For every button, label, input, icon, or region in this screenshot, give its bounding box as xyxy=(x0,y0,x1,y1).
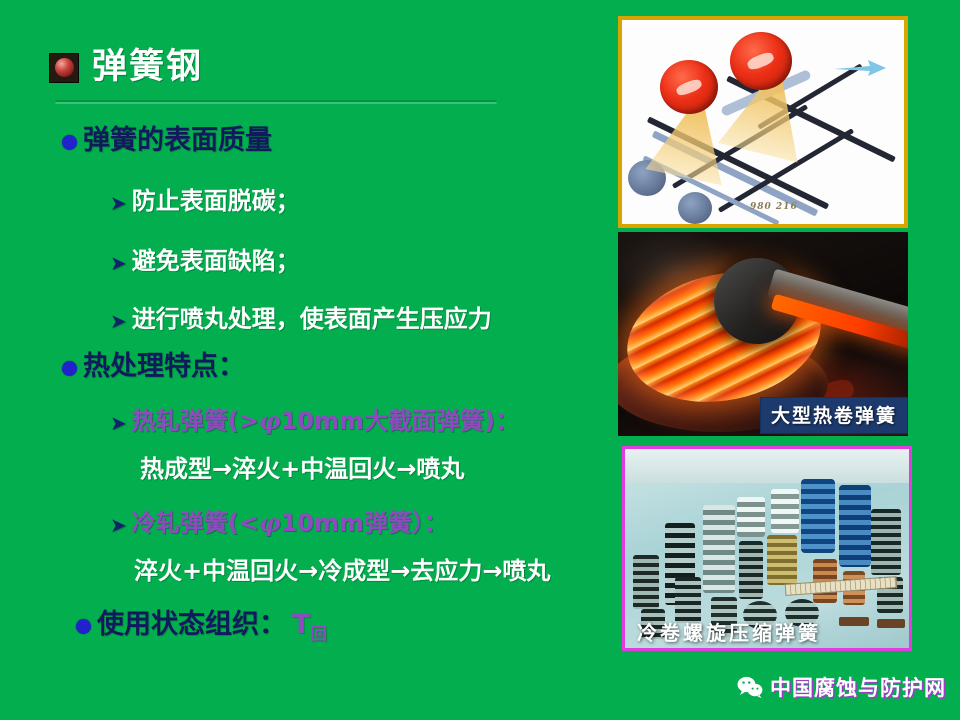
phi-symbol: φ xyxy=(259,406,281,435)
section-heading-service-structure: 使用状态组织： T回 xyxy=(76,610,327,643)
spring-item xyxy=(771,489,799,533)
spring-item xyxy=(877,619,905,628)
phi-symbol: φ xyxy=(259,508,281,537)
arrow-bullet-icon: ➤ xyxy=(110,193,127,213)
blast-wheel-right-icon xyxy=(730,32,792,90)
spring-item xyxy=(703,505,735,593)
shot-peening-machine-diagram: 980 216 xyxy=(618,16,908,228)
spring-item xyxy=(767,535,797,585)
cold-rolled-process: 淬火+中温回火→冷成型→去应力→喷丸 xyxy=(134,558,550,584)
title-divider xyxy=(55,100,497,104)
tempered-symbol: T回 xyxy=(292,610,327,643)
drive-drum-right xyxy=(678,192,712,224)
diagram-canvas: 980 216 xyxy=(622,20,904,224)
cold-coiled-compression-springs-photo: 冷卷螺旋压缩弹簧 xyxy=(622,446,912,651)
image-caption: 冷卷螺旋压缩弹簧 xyxy=(637,617,821,646)
spring-item xyxy=(739,541,763,599)
heading-text: 弹簧的表面质量 xyxy=(83,126,272,156)
red-sphere-bullet-icon xyxy=(50,54,78,82)
list-item: ➤ 防止表面脱碳； xyxy=(110,188,300,214)
list-item: ➤ 避免表面缺陷； xyxy=(110,248,300,274)
wechat-icon xyxy=(737,676,763,698)
diagram-code-label: 980 216 xyxy=(750,202,798,212)
list-item-cold-rolled: ➤ 冷轧弹簧(<φ10mm弹簧）： xyxy=(110,510,448,536)
watermark: 中国腐蚀与防护网 xyxy=(737,672,946,702)
image-caption: 大型热卷弹簧 xyxy=(760,397,908,434)
arrow-bullet-icon: ➤ xyxy=(110,515,127,535)
blast-wheel-left-icon xyxy=(660,60,718,114)
direction-arrow-icon xyxy=(834,60,886,76)
spring-item xyxy=(633,555,659,609)
list-item-label: 进行喷丸处理，使表面产生压应力 xyxy=(132,306,492,332)
list-item: ➤ 进行喷丸处理，使表面产生压应力 xyxy=(110,306,492,332)
page-title: 弹簧钢 xyxy=(92,50,203,85)
heading-text: 热处理特点： xyxy=(83,352,245,382)
section-heading-heat-treatment: 热处理特点： xyxy=(62,352,245,382)
arrow-bullet-icon: ➤ xyxy=(110,311,127,331)
watermark-text: 中国腐蚀与防护网 xyxy=(770,672,946,702)
list-item-label: 防止表面脱碳； xyxy=(132,188,300,214)
spring-item xyxy=(737,497,765,537)
spring-item xyxy=(839,485,871,567)
hot-rolled-label: 热轧弹簧(>φ10mm大截面弹簧)： xyxy=(132,408,519,434)
hot-rolled-process: 热成型→淬火+中温回火→喷丸 xyxy=(140,456,464,482)
list-item-hot-rolled: ➤ 热轧弹簧(>φ10mm大截面弹簧)： xyxy=(110,408,519,434)
blue-dot-bullet-icon xyxy=(62,135,77,150)
arrow-bullet-icon: ➤ xyxy=(110,253,127,273)
hot-coiled-spring-photo: 大型热卷弹簧 xyxy=(618,232,908,436)
cold-rolled-label: 冷轧弹簧(<φ10mm弹簧）： xyxy=(132,510,448,536)
heading-text: 使用状态组织： xyxy=(97,610,286,640)
photo-backdrop xyxy=(625,449,909,483)
list-item-label: 避免表面缺陷； xyxy=(132,248,300,274)
slide-canvas: 弹簧钢 弹簧的表面质量 ➤ 防止表面脱碳； ➤ 避免表面缺陷； ➤ 进行喷丸处理… xyxy=(0,0,960,720)
arrow-bullet-icon: ➤ xyxy=(110,413,127,433)
slide-title-row: 弹簧钢 xyxy=(50,50,203,85)
spring-item xyxy=(839,617,869,626)
blue-dot-bullet-icon xyxy=(76,619,91,634)
blue-dot-bullet-icon xyxy=(62,361,77,376)
tempered-subscript: 回 xyxy=(310,623,327,643)
spring-item xyxy=(801,479,835,553)
section-heading-surface-quality: 弹簧的表面质量 xyxy=(62,126,272,156)
spring-item xyxy=(871,509,901,575)
